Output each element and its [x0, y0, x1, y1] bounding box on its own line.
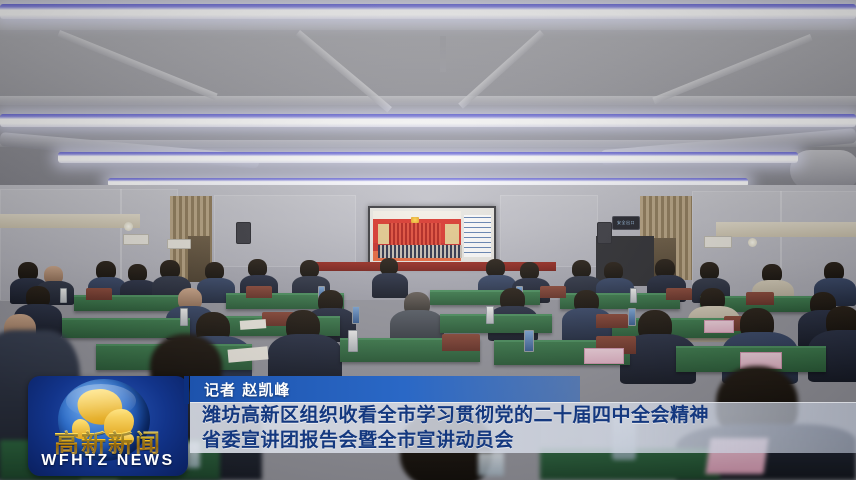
projection-image-detail	[389, 223, 441, 245]
conference-table	[62, 318, 190, 338]
projection-image-detail	[378, 245, 462, 258]
reporter-bar-edge	[184, 376, 189, 404]
ceiling-beam	[0, 96, 856, 105]
channel-name-en: WFHTZ NEWS	[28, 452, 188, 470]
wall-plate	[704, 236, 732, 248]
wall-plate	[167, 239, 191, 249]
broadcast-frame: 安全出口	[0, 0, 856, 480]
reporter-bar: 记者 赵凯峰	[190, 376, 580, 402]
ceiling-light-strip	[58, 152, 798, 163]
reporter-name: 记者 赵凯峰	[190, 379, 290, 400]
document-paper	[228, 346, 269, 362]
chair	[596, 314, 628, 328]
name-placard	[584, 348, 624, 364]
wall-panel	[500, 195, 598, 267]
headline-bar: 潍坊高新区组织收看全市学习贯彻党的二十届四中全会精神 省委宣讲团报告会暨全市宣讲…	[190, 402, 856, 453]
ceiling-duct	[790, 150, 856, 190]
ceiling-light-strip	[0, 4, 856, 19]
speaker-icon	[597, 222, 612, 244]
name-placard	[704, 320, 734, 333]
document-paper	[240, 319, 267, 330]
thermos-cup	[524, 330, 534, 352]
chair	[666, 288, 692, 300]
chair	[86, 288, 112, 300]
ceiling-beam	[440, 36, 446, 72]
thermos-cup	[628, 308, 636, 326]
thermos-cup	[348, 330, 358, 352]
chair	[746, 292, 774, 305]
chair	[442, 334, 480, 351]
wall-lamp-icon	[124, 222, 133, 231]
national-emblem-icon	[411, 217, 419, 223]
thermos-cup	[352, 306, 360, 324]
wall-light-cove	[716, 222, 856, 237]
thermos-cup	[60, 288, 67, 303]
headline-line-2: 省委宣讲团报告会暨全市宣讲动员会	[190, 428, 856, 453]
stage-backdrop	[304, 262, 556, 271]
water-glass	[478, 452, 504, 476]
thermos-cup	[486, 306, 494, 324]
ceiling-light-strip	[0, 114, 856, 127]
headline-line-1: 潍坊高新区组织收看全市学习贯彻党的二十届四中全会精神	[190, 403, 856, 428]
chair	[246, 286, 272, 298]
ceiling-recessed-panel	[0, 30, 856, 150]
chair	[540, 286, 566, 298]
wall-plate	[123, 234, 149, 245]
globe-highlight	[66, 384, 136, 418]
projection-image-detail	[445, 224, 459, 244]
channel-logo: 高新新闻 WFHTZ NEWS	[28, 376, 188, 476]
exit-sign: 安全出口	[612, 216, 640, 230]
conference-table	[440, 314, 552, 333]
thermos-cup	[630, 288, 637, 303]
ceiling	[0, 0, 856, 200]
thermos-cup	[180, 308, 188, 326]
wall-lamp-icon	[748, 238, 757, 247]
projection-image	[373, 211, 461, 261]
projection-text-block	[464, 215, 491, 257]
speaker-icon	[236, 222, 251, 244]
wall-light-cove	[0, 214, 140, 228]
